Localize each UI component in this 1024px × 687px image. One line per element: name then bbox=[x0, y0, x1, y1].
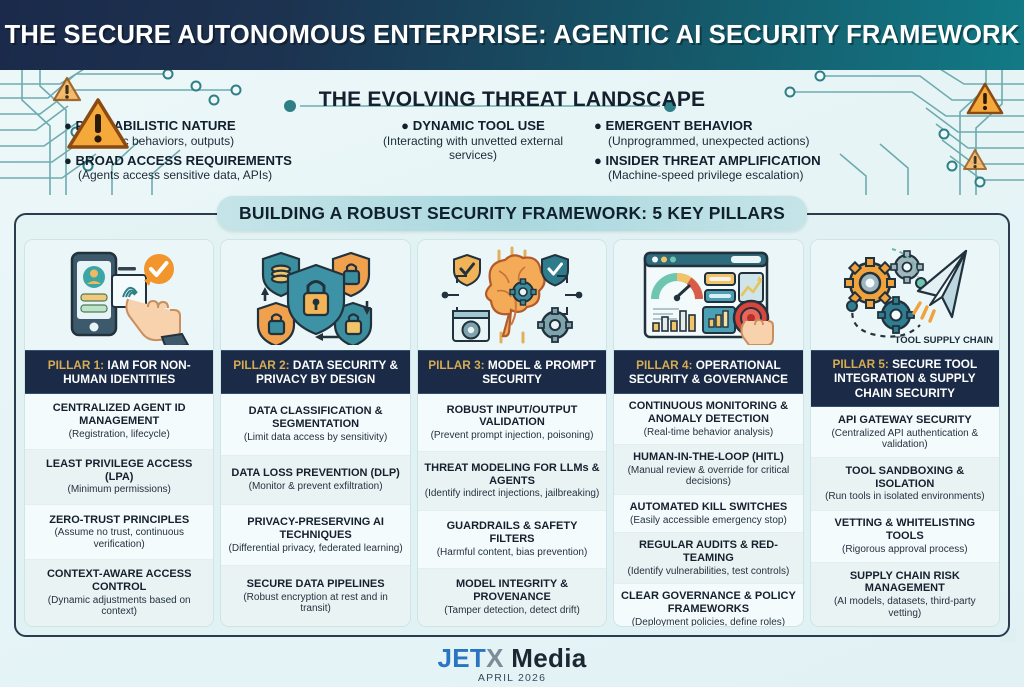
pillar-item-title: ZERO-TRUST PRINCIPLES bbox=[31, 514, 207, 527]
brand-date: APRIL 2026 bbox=[0, 672, 1024, 684]
pillar-item-sub: (Registration, lifecycle) bbox=[31, 429, 207, 441]
threat-column-2: ● DYNAMIC TOOL USE (Interacting with unv… bbox=[358, 118, 588, 187]
threat-landscape-title: THE EVOLVING THREAT LANDSCAPE bbox=[0, 88, 1024, 112]
dashboard-killswitch-icon bbox=[633, 245, 783, 345]
threat-item-head: ● BROAD ACCESS REQUIREMENTS bbox=[64, 153, 352, 169]
threat-landscape-section: THE EVOLVING THREAT LANDSCAPE ● PROBABIL… bbox=[0, 70, 1024, 195]
pillar-item-sub: (Minimum permissions) bbox=[31, 484, 207, 496]
pillar-item-title: TOOL SANDBOXING & ISOLATION bbox=[817, 465, 993, 491]
pillar-card-4[interactable]: PILLAR 4: OPERATIONAL SECURITY & GOVERNA… bbox=[613, 239, 803, 627]
pillar-item: TOOL SANDBOXING & ISOLATION(Run tools in… bbox=[811, 458, 999, 510]
pillar-3-title: MODEL & PROMPT SECURITY bbox=[482, 358, 596, 386]
pillar-card-3[interactable]: PILLAR 3: MODEL & PROMPT SECURITY ROBUST… bbox=[417, 239, 607, 627]
warning-triangle-icon-small bbox=[52, 76, 82, 103]
pillar-2-body: DATA CLASSIFICATION & SEGMENTATION(Limit… bbox=[221, 394, 409, 626]
brand-jet-text: JET bbox=[438, 643, 487, 673]
pillar-item: SECURE DATA PIPELINES(Robust encryption … bbox=[221, 566, 409, 626]
pillar-item-sub: (Monitor & prevent exfiltration) bbox=[227, 481, 403, 493]
threat-columns: ● PROBABILISTIC NATURE (Dynamic behavior… bbox=[0, 118, 1024, 187]
pillar-item: CONTEXT-AWARE ACCESS CONTROL(Dynamic adj… bbox=[25, 560, 213, 626]
threat-item-head: ● EMERGENT BEHAVIOR bbox=[594, 118, 960, 134]
pillar-item: CONTINUOUS MONITORING & ANOMALY DETECTIO… bbox=[614, 394, 802, 445]
pillar-item-title: PRIVACY-PRESERVING AI TECHNIQUES bbox=[227, 516, 403, 542]
pillar-item-sub: (Identify indirect injections, jailbreak… bbox=[424, 488, 600, 500]
threat-item-head-text: BROAD ACCESS REQUIREMENTS bbox=[76, 153, 292, 168]
threat-item: ● INSIDER THREAT AMPLIFICATION (Machine-… bbox=[594, 153, 960, 183]
pillar-card-1[interactable]: PILLAR 1: IAM FOR NON-HUMAN IDENTITIES C… bbox=[24, 239, 214, 627]
pillar-1-header: PILLAR 1: IAM FOR NON-HUMAN IDENTITIES bbox=[25, 350, 213, 394]
threat-item-sub: (Interacting with unvetted external serv… bbox=[364, 134, 582, 162]
pillar-item-sub: (Assume no trust, continuous verificatio… bbox=[31, 527, 207, 550]
fingerprint-phone-identity-icon bbox=[44, 245, 194, 345]
pillar-item: DATA LOSS PREVENTION (DLP)(Monitor & pre… bbox=[221, 456, 409, 505]
framework-panel: BUILDING A ROBUST SECURITY FRAMEWORK: 5 … bbox=[14, 213, 1010, 637]
pillar-item-sub: (Robust encryption at rest and in transi… bbox=[227, 592, 403, 615]
pillar-5-icon-caption: TOOL SUPPLY CHAIN bbox=[895, 336, 993, 346]
pillar-item-title: DATA CLASSIFICATION & SEGMENTATION bbox=[227, 405, 403, 431]
pillar-item-sub: (Tamper detection, detect drift) bbox=[424, 605, 600, 617]
pillar-2-icon-area bbox=[221, 240, 409, 350]
pillar-item-title: CLEAR GOVERNANCE & POLICY FRAMEWORKS bbox=[620, 590, 796, 616]
brand-x-icon: X bbox=[486, 643, 504, 673]
pillar-card-5[interactable]: TOOL SUPPLY CHAIN PILLAR 5: SECURE TOOL … bbox=[810, 239, 1000, 627]
pillar-item: LEAST PRIVILEGE ACCESS (LPA)(Minimum per… bbox=[25, 450, 213, 506]
page-title: THE SECURE AUTONOMOUS ENTERPRISE: AGENTI… bbox=[5, 21, 1020, 50]
bullet-icon: ● bbox=[594, 118, 602, 133]
threat-item: ● DYNAMIC TOOL USE (Interacting with unv… bbox=[364, 118, 582, 162]
pillar-3-body: ROBUST INPUT/OUTPUT VALIDATION(Prevent p… bbox=[418, 394, 606, 626]
threat-item: ● EMERGENT BEHAVIOR (Unprogrammed, unexp… bbox=[594, 118, 960, 148]
gears-paper-plane-supply-chain-icon bbox=[830, 245, 980, 345]
threat-item-sub: (Machine-speed privilege escalation) bbox=[594, 168, 960, 182]
pillar-item-title: REGULAR AUDITS & RED-TEAMING bbox=[620, 539, 796, 565]
pillar-4-body: CONTINUOUS MONITORING & ANOMALY DETECTIO… bbox=[614, 394, 802, 627]
pillar-item-title: CONTINUOUS MONITORING & ANOMALY DETECTIO… bbox=[620, 400, 796, 426]
pillar-item: HUMAN-IN-THE-LOOP (HITL)(Manual review &… bbox=[614, 445, 802, 495]
brand-media-text: Media bbox=[504, 643, 587, 673]
pillar-item-sub: (Deployment policies, define roles) bbox=[620, 617, 796, 627]
pillar-item-title: CONTEXT-AWARE ACCESS CONTROL bbox=[31, 568, 207, 594]
pillar-item: CENTRALIZED AGENT ID MANAGEMENT(Registra… bbox=[25, 394, 213, 450]
pillar-5-number: PILLAR 5: bbox=[833, 357, 889, 371]
pillar-3-number: PILLAR 3: bbox=[428, 358, 484, 372]
pillar-item-title: AUTOMATED KILL SWITCHES bbox=[620, 501, 796, 514]
pillar-3-header: PILLAR 3: MODEL & PROMPT SECURITY bbox=[418, 350, 606, 394]
pillar-5-icon-area: TOOL SUPPLY CHAIN bbox=[811, 240, 999, 350]
pillar-2-header: PILLAR 2: DATA SECURITY & PRIVACY BY DES… bbox=[221, 350, 409, 394]
pillar-item-sub: (Dynamic adjustments based on context) bbox=[31, 595, 207, 618]
pillar-item-title: VETTING & WHITELISTING TOOLS bbox=[817, 517, 993, 543]
threat-item-head-text: DYNAMIC TOOL USE bbox=[413, 118, 545, 133]
pillar-4-header: PILLAR 4: OPERATIONAL SECURITY & GOVERNA… bbox=[614, 350, 802, 394]
pillar-1-body: CENTRALIZED AGENT ID MANAGEMENT(Registra… bbox=[25, 394, 213, 626]
pillar-item: REGULAR AUDITS & RED-TEAMING(Identify vu… bbox=[614, 533, 802, 584]
pillar-1-number: PILLAR 1: bbox=[48, 358, 104, 372]
threat-item-head-text: EMERGENT BEHAVIOR bbox=[606, 118, 753, 133]
pillars-row: PILLAR 1: IAM FOR NON-HUMAN IDENTITIES C… bbox=[24, 239, 1000, 627]
bullet-icon: ● bbox=[594, 153, 602, 168]
threat-item-head: ● INSIDER THREAT AMPLIFICATION bbox=[594, 153, 960, 169]
corner-fold-decoration bbox=[998, 625, 1016, 643]
pillar-item: MODEL INTEGRITY & PROVENANCE(Tamper dete… bbox=[418, 569, 606, 626]
pillar-item-title: LEAST PRIVILEGE ACCESS (LPA) bbox=[31, 458, 207, 484]
page-header: THE SECURE AUTONOMOUS ENTERPRISE: AGENTI… bbox=[0, 0, 1024, 70]
bullet-icon: ● bbox=[64, 153, 72, 168]
framework-banner: BUILDING A ROBUST SECURITY FRAMEWORK: 5 … bbox=[217, 196, 807, 231]
pillar-item-title: MODEL INTEGRITY & PROVENANCE bbox=[424, 578, 600, 604]
warning-triangle-icon-right-small bbox=[962, 148, 988, 172]
threat-item: ● BROAD ACCESS REQUIREMENTS (Agents acce… bbox=[64, 153, 352, 183]
warning-triangle-icon bbox=[66, 96, 130, 152]
pillar-item-sub: (Easily accessible emergency stop) bbox=[620, 515, 796, 527]
pillar-item: DATA CLASSIFICATION & SEGMENTATION(Limit… bbox=[221, 394, 409, 456]
pillar-item: GUARDRAILS & SAFETY FILTERS(Harmful cont… bbox=[418, 511, 606, 569]
pillar-item-title: CENTRALIZED AGENT ID MANAGEMENT bbox=[31, 402, 207, 428]
pillar-item-title: THREAT MODELING FOR LLMs & AGENTS bbox=[424, 462, 600, 488]
threat-item-sub: (Agents access sensitive data, APIs) bbox=[64, 168, 352, 182]
threat-item-head-text: INSIDER THREAT AMPLIFICATION bbox=[606, 153, 821, 168]
brain-shields-gears-icon bbox=[437, 245, 587, 345]
pillar-item-sub: (Centralized API authentication & valida… bbox=[817, 428, 993, 451]
pillar-item-title: API GATEWAY SECURITY bbox=[817, 414, 993, 427]
pillar-5-body: API GATEWAY SECURITY(Centralized API aut… bbox=[811, 407, 999, 626]
pillar-item: THREAT MODELING FOR LLMs & AGENTS(Identi… bbox=[418, 452, 606, 510]
pillar-5-header: PILLAR 5: SECURE TOOL INTEGRATION & SUPP… bbox=[811, 350, 999, 407]
pillar-item-title: GUARDRAILS & SAFETY FILTERS bbox=[424, 520, 600, 546]
pillar-4-number: PILLAR 4: bbox=[636, 358, 692, 372]
pillar-item-sub: (Prevent prompt injection, poisoning) bbox=[424, 430, 600, 442]
pillar-item-title: DATA LOSS PREVENTION (DLP) bbox=[227, 467, 403, 480]
pillar-item-sub: (Harmful content, bias prevention) bbox=[424, 547, 600, 559]
pillar-item: ROBUST INPUT/OUTPUT VALIDATION(Prevent p… bbox=[418, 394, 606, 452]
pillar-item-sub: (Run tools in isolated environments) bbox=[817, 491, 993, 503]
page-footer: JETX Media APRIL 2026 bbox=[0, 643, 1024, 684]
pillar-item-sub: (Differential privacy, federated learnin… bbox=[227, 543, 403, 555]
pillar-2-number: PILLAR 2: bbox=[233, 358, 289, 372]
pillar-item-sub: (Identify vulnerabilities, test controls… bbox=[620, 566, 796, 578]
bullet-icon: ● bbox=[401, 118, 409, 133]
pillar-1-icon-area bbox=[25, 240, 213, 350]
pillar-item-title: ROBUST INPUT/OUTPUT VALIDATION bbox=[424, 404, 600, 430]
pillar-item-title: SUPPLY CHAIN RISK MANAGEMENT bbox=[817, 570, 993, 596]
pillar-item: VETTING & WHITELISTING TOOLS(Rigorous ap… bbox=[811, 511, 999, 563]
pillar-4-icon-area bbox=[614, 240, 802, 350]
threat-item-sub: (Unprogrammed, unexpected actions) bbox=[594, 134, 960, 148]
pillar-item-sub: (AI models, datasets, third-party vettin… bbox=[817, 596, 993, 619]
shield-lock-cluster-icon bbox=[241, 245, 391, 345]
infographic-page: THE SECURE AUTONOMOUS ENTERPRISE: AGENTI… bbox=[0, 0, 1024, 687]
pillar-item: PRIVACY-PRESERVING AI TECHNIQUES(Differe… bbox=[221, 505, 409, 567]
pillar-item-sub: (Limit data access by sensitivity) bbox=[227, 432, 403, 444]
warning-triangle-icon-right bbox=[966, 82, 1004, 116]
threat-column-3: ● EMERGENT BEHAVIOR (Unprogrammed, unexp… bbox=[588, 118, 966, 187]
pillar-item-sub: (Manual review & override for critical d… bbox=[620, 465, 796, 488]
pillar-item: CLEAR GOVERNANCE & POLICY FRAMEWORKS(Dep… bbox=[614, 584, 802, 627]
pillar-item-sub: (Real-time behavior analysis) bbox=[620, 427, 796, 439]
brand-logo: JETX Media bbox=[0, 643, 1024, 674]
threat-item-head: ● DYNAMIC TOOL USE bbox=[364, 118, 582, 134]
pillar-item-title: HUMAN-IN-THE-LOOP (HITL) bbox=[620, 451, 796, 464]
pillar-item-title: SECURE DATA PIPELINES bbox=[227, 578, 403, 591]
pillar-3-icon-area bbox=[418, 240, 606, 350]
pillar-item: ZERO-TRUST PRINCIPLES(Assume no trust, c… bbox=[25, 505, 213, 559]
pillar-card-2[interactable]: PILLAR 2: DATA SECURITY & PRIVACY BY DES… bbox=[220, 239, 410, 627]
pillar-item-sub: (Rigorous approval process) bbox=[817, 544, 993, 556]
pillar-item: API GATEWAY SECURITY(Centralized API aut… bbox=[811, 407, 999, 458]
pillar-item: AUTOMATED KILL SWITCHES(Easily accessibl… bbox=[614, 495, 802, 533]
pillar-item: SUPPLY CHAIN RISK MANAGEMENT(AI models, … bbox=[811, 563, 999, 626]
